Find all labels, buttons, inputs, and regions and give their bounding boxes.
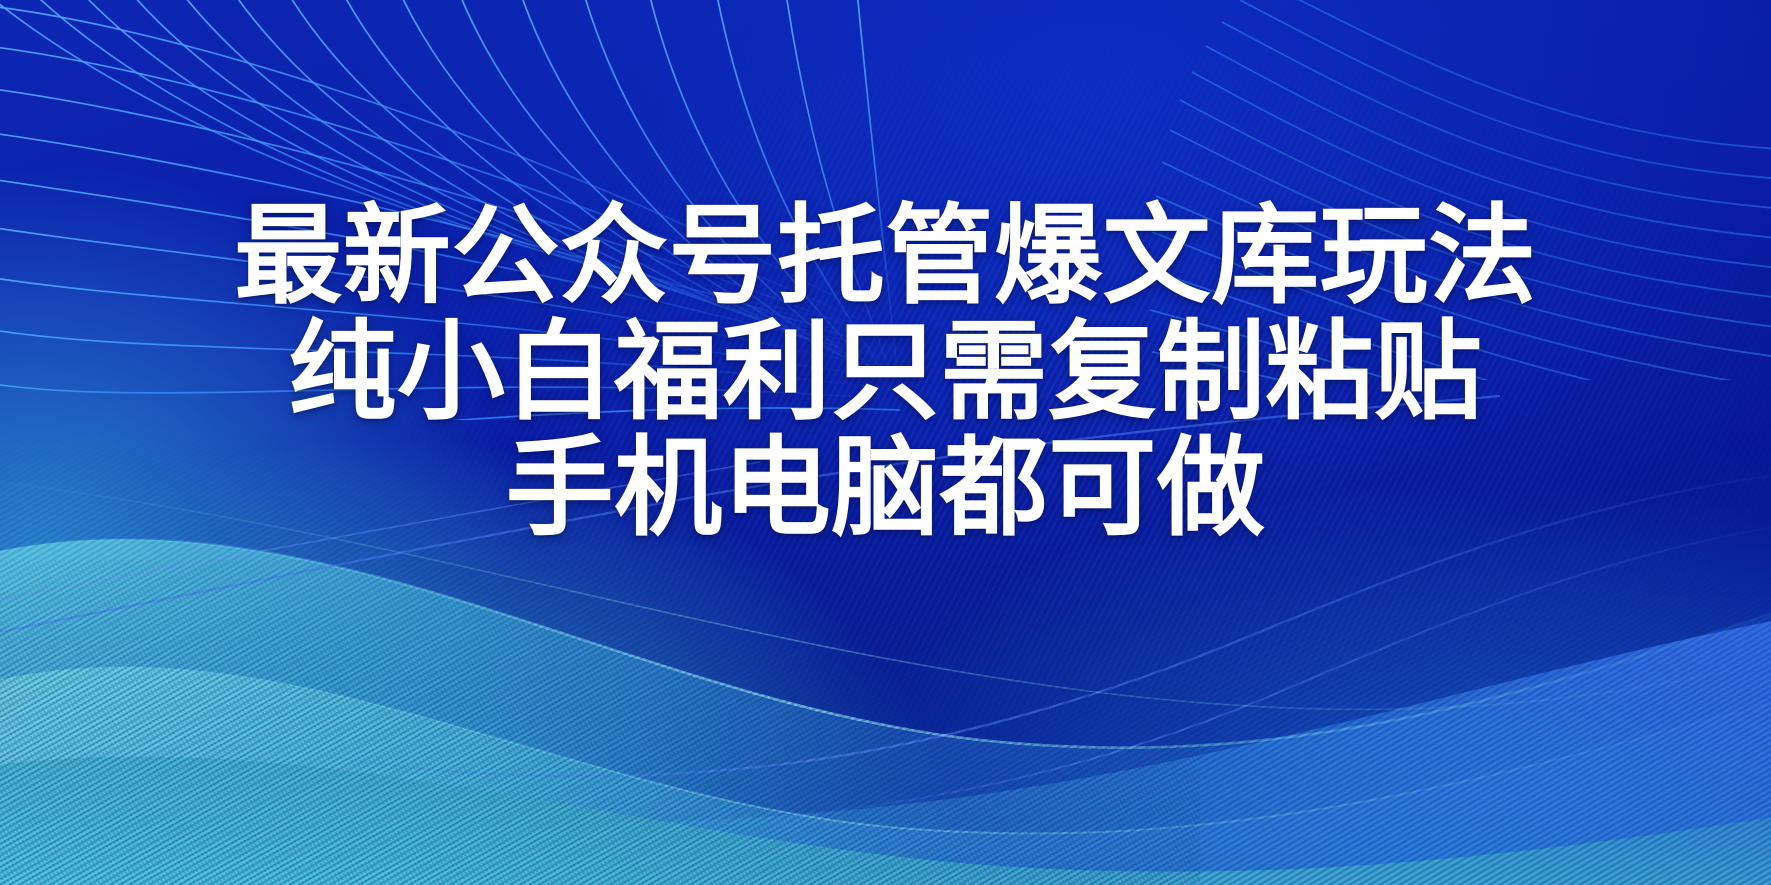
- headline-line-2: 纯小白福利只需复制粘贴: [0, 314, 1771, 430]
- promo-banner: 最新公众号托管爆文库玩法 纯小白福利只需复制粘贴 手机电脑都可做: [0, 0, 1771, 885]
- headline-line-1: 最新公众号托管爆文库玩法: [0, 198, 1771, 314]
- headline-block: 最新公众号托管爆文库玩法 纯小白福利只需复制粘贴 手机电脑都可做: [0, 198, 1771, 546]
- headline-line-3: 手机电脑都可做: [0, 430, 1771, 546]
